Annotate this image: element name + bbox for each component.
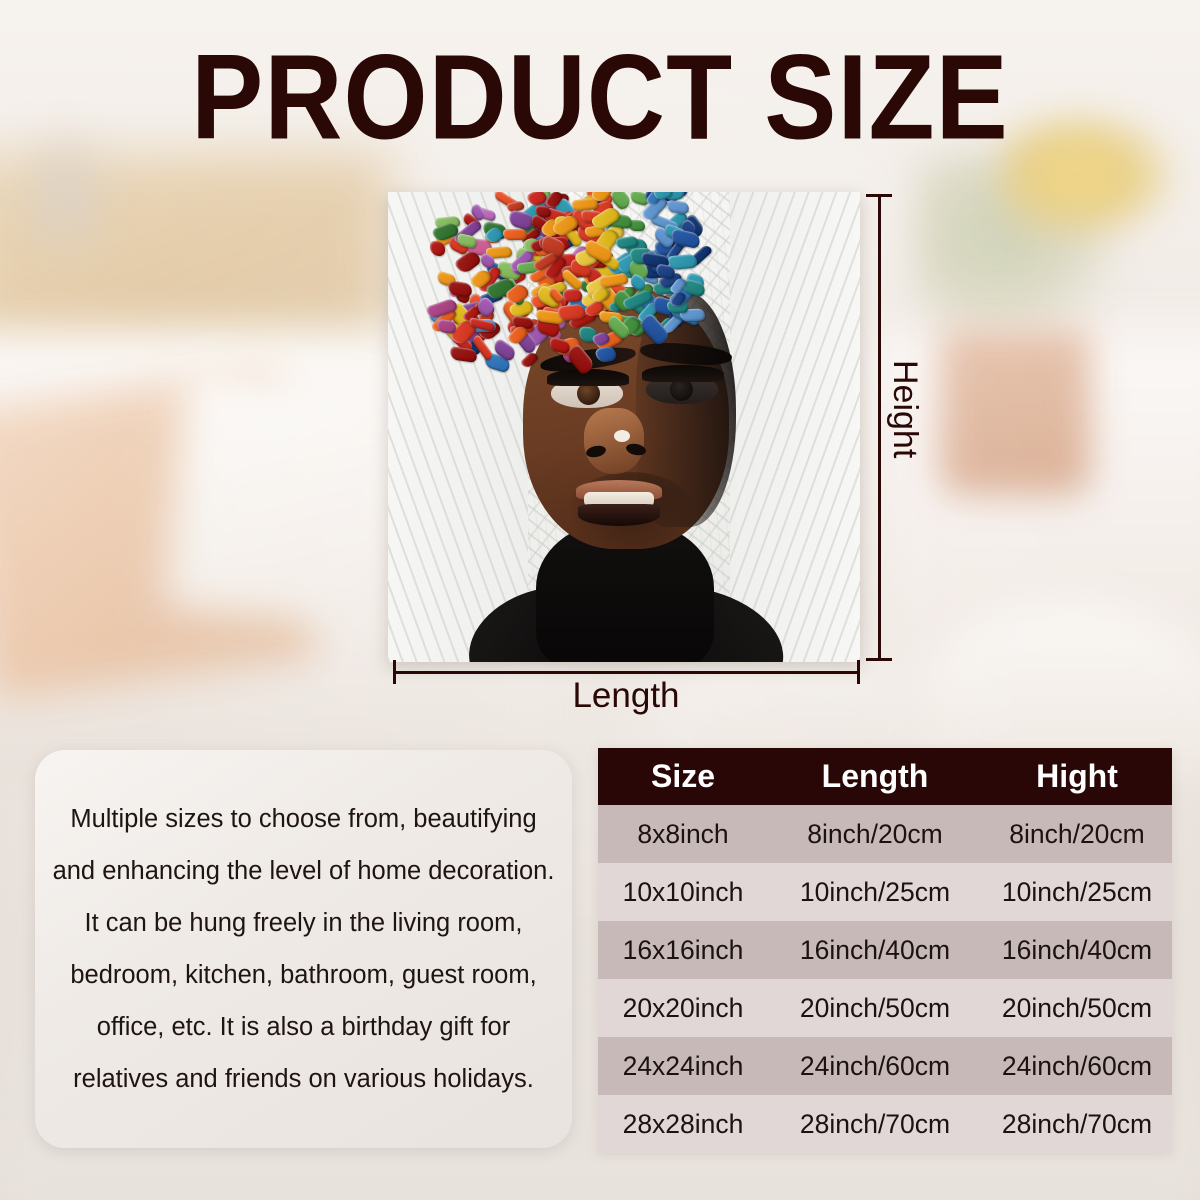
page-title: PRODUCT SIZE [0,38,1200,156]
cell-hight: 8inch/20cm [982,805,1172,863]
description-line: and enhancing the level of home decorati… [49,845,558,897]
description-line: bedroom, kitchen, bathroom, guest room, [49,949,558,1001]
product-artwork-canvas [388,192,860,662]
table-row: 24x24inch24inch/60cm24inch/60cm [598,1037,1172,1095]
lower-lip [578,504,660,526]
size-table-header-row: Size Length Hight [598,748,1172,805]
column-header-length: Length [768,748,982,805]
cell-size: 24x24inch [598,1037,768,1095]
column-header-hight: Hight [982,748,1172,805]
size-table-body: 8x8inch8inch/20cm8inch/20cm10x10inch10in… [598,805,1172,1153]
size-table: Size Length Hight 8x8inch8inch/20cm8inch… [598,748,1172,1153]
paint-stroke [503,229,527,241]
cell-length: 8inch/20cm [768,805,982,863]
cell-length: 16inch/40cm [768,921,982,979]
cell-size: 8x8inch [598,805,768,863]
eye-left-lid [547,369,629,386]
cell-hight: 10inch/25cm [982,863,1172,921]
cell-hight: 20inch/50cm [982,979,1172,1037]
nose-highlight [614,430,630,442]
length-label: Length [393,676,859,716]
cell-hight: 16inch/40cm [982,921,1172,979]
cell-length: 20inch/50cm [768,979,982,1037]
cell-length: 10inch/25cm [768,863,982,921]
height-cap-bottom [866,658,892,661]
table-row: 20x20inch20inch/50cm20inch/50cm [598,979,1172,1037]
description-line: office, etc. It is also a birthday gift … [49,1001,558,1053]
cell-size: 28x28inch [598,1095,768,1153]
cell-length: 24inch/60cm [768,1037,982,1095]
eye-right-lid [642,365,724,382]
cell-hight: 24inch/60cm [982,1037,1172,1095]
eye-left [551,378,623,408]
height-dimension-line [878,194,881,660]
palette-knife-portrait [388,192,860,662]
description-line: It can be hung freely in the living room… [49,897,558,949]
table-row: 8x8inch8inch/20cm8inch/20cm [598,805,1172,863]
description-card: Multiple sizes to choose from, beautifyi… [35,750,572,1148]
paint-stroke [562,288,582,302]
cell-size: 16x16inch [598,921,768,979]
cell-hight: 28inch/70cm [982,1095,1172,1153]
length-dimension-line [393,671,859,674]
height-cap-top [866,194,892,197]
column-header-size: Size [598,748,768,805]
table-row: 16x16inch16inch/40cm16inch/40cm [598,921,1172,979]
description-line: Multiple sizes to choose from, beautifyi… [49,793,558,845]
height-label: Height [885,360,924,458]
cell-length: 28inch/70cm [768,1095,982,1153]
eye-right [646,374,718,404]
cell-size: 20x20inch [598,979,768,1037]
table-row: 10x10inch10inch/25cm10inch/25cm [598,863,1172,921]
cell-size: 10x10inch [598,863,768,921]
table-row: 28x28inch28inch/70cm28inch/70cm [598,1095,1172,1153]
nose [584,408,644,474]
description-line: relatives and friends on various holiday… [49,1053,558,1105]
size-table-head: Size Length Hight [598,748,1172,805]
canvas-texture-right [730,192,860,662]
